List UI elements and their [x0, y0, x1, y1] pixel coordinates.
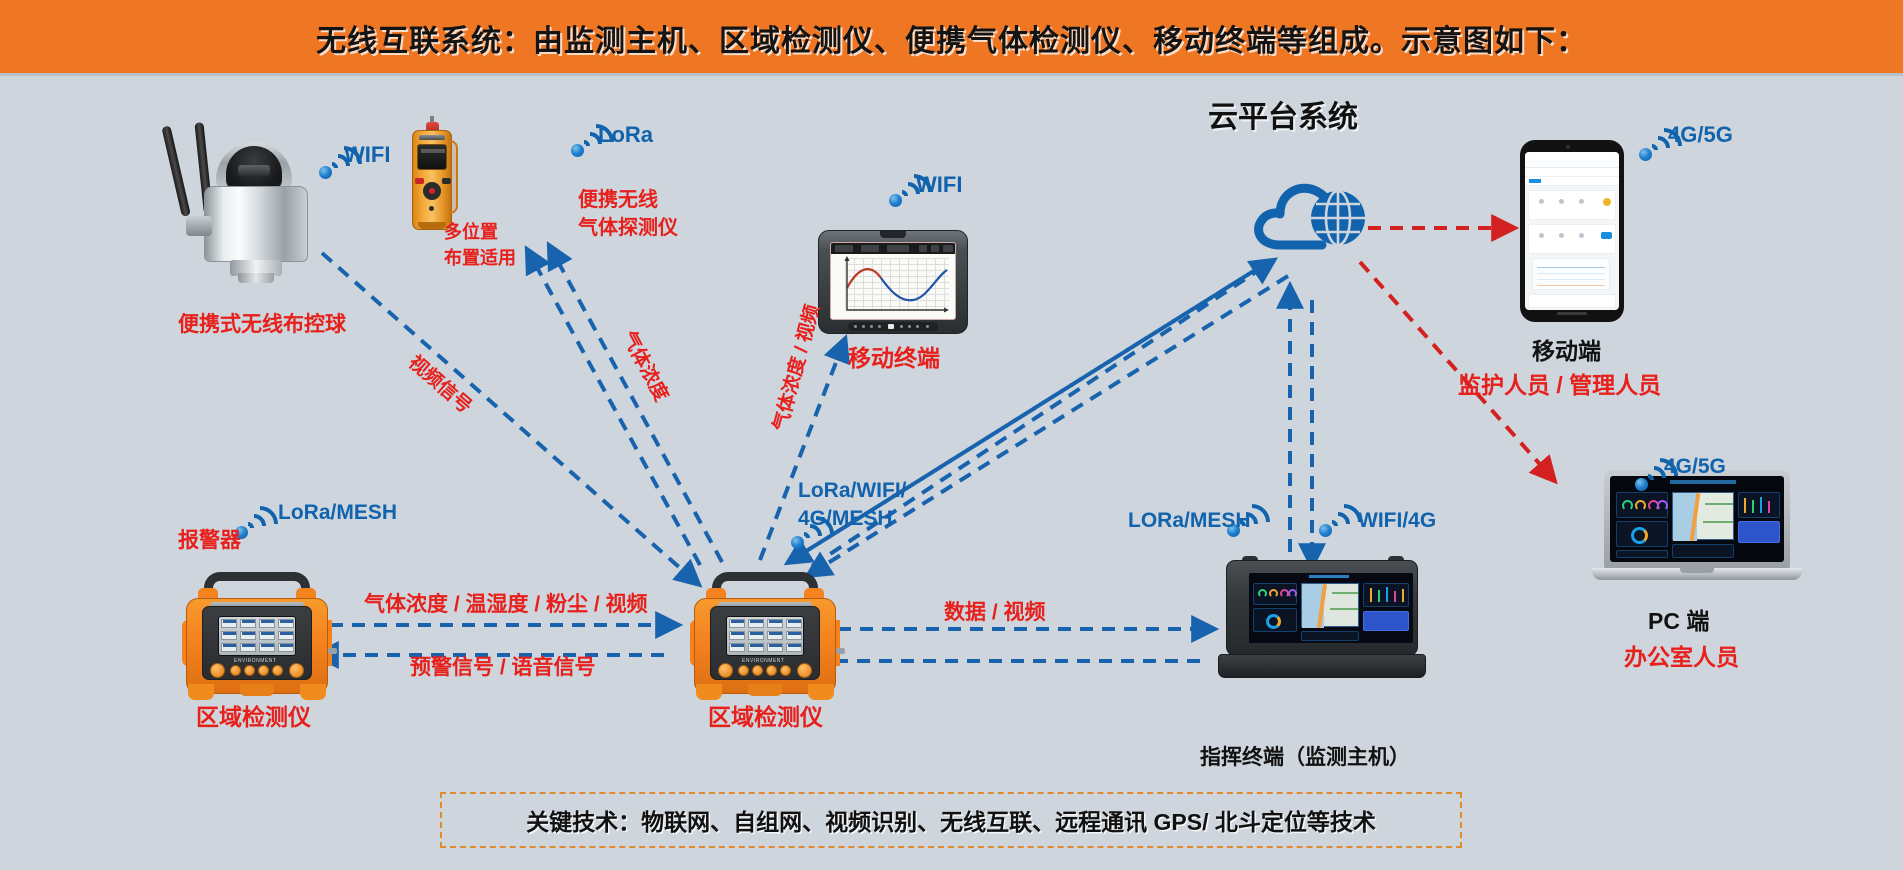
- rugged-map-widget: [1301, 583, 1359, 627]
- pc-base-notch: [1680, 568, 1714, 573]
- handheld-note-line1: 多位置: [444, 222, 498, 244]
- area-detector-left-device: ENVIRONMENT: [182, 572, 332, 702]
- pc-label: PC 端: [1648, 608, 1709, 636]
- link-label-video-signal: 视频信号: [403, 352, 475, 419]
- pc-widget-gauges: [1616, 492, 1668, 518]
- pc-widget-video: [1738, 521, 1780, 543]
- cloud-platform-label: 云平台系统: [1208, 100, 1358, 136]
- rugged-tablet-device: [818, 230, 968, 334]
- pc-widget-bars: [1738, 492, 1780, 518]
- cloud-icon: [1240, 150, 1390, 255]
- pc-map-widget: [1672, 492, 1734, 540]
- link-label-gas-video: 气体浓度 / 视频: [770, 303, 826, 434]
- command-terminal-label: 指挥终端（监测主机）: [1200, 745, 1410, 770]
- phone-tab-row: [1525, 177, 1619, 186]
- detector-vent: [419, 135, 445, 140]
- rugged-base: [1218, 654, 1426, 678]
- rugged-widget-gauges: [1253, 583, 1297, 605]
- command-terminal-device: [1218, 560, 1426, 678]
- key-technology-text: 关键技术：物联网、自组网、视频识别、无线互联、远程通讯 GPS/ 北斗定位等技术: [526, 803, 1376, 837]
- detector-button-left: [415, 178, 424, 184]
- phone-status-bar: [1525, 152, 1619, 159]
- detector-foot-middle: [748, 684, 782, 696]
- detector-dpad: [423, 182, 441, 200]
- phone-card-2: [1528, 224, 1616, 254]
- cloud-platform-device: [1240, 150, 1390, 255]
- camera-side-connector: [186, 216, 212, 236]
- ball-camera-signal-label: WIFI: [344, 142, 390, 168]
- link-label-data-video: 数据 / 视频: [944, 600, 1046, 625]
- pc-signal-label: 4G/5G: [1664, 454, 1726, 479]
- area-detector-center-label: 区域检测仪: [708, 704, 823, 732]
- phone-label: 移动端: [1532, 338, 1601, 366]
- pc-sublabel: 办公室人员: [1624, 644, 1739, 672]
- pc-laptop-device: [1592, 470, 1802, 590]
- camera-lens-band: [238, 165, 270, 176]
- command-signal-right-label: WIFI/4G: [1358, 508, 1436, 533]
- tablet-camera: [880, 231, 906, 238]
- detector-foot-left: [188, 684, 214, 700]
- link-label-gas-concentration: 气体浓度: [616, 328, 672, 406]
- rugged-widget-log: [1301, 631, 1359, 641]
- handheld-note-line2: 布置适用: [444, 248, 516, 270]
- phone-app-header: [1525, 159, 1619, 168]
- detector-button-row: [210, 664, 304, 678]
- detector-connector: [836, 648, 845, 654]
- handheld-gas-detector-device: [412, 122, 458, 230]
- camera-base: [238, 273, 274, 283]
- header-divider: [0, 73, 1903, 76]
- phone-signal-label: 4G/5G: [1668, 122, 1733, 148]
- phone-card-3: [1528, 294, 1616, 308]
- link-label-protocol-line1: LoRa/WIFI/: [798, 478, 907, 503]
- key-technology-box: 关键技术：物联网、自组网、视频识别、无线互联、远程通讯 GPS/ 北斗定位等技术: [440, 792, 1462, 848]
- phone-home-indicator: [1557, 312, 1587, 315]
- pc-widget-log: [1672, 544, 1734, 558]
- tablet-screen: [830, 242, 956, 320]
- detector-screen: [417, 144, 447, 170]
- phone-screen: [1525, 152, 1619, 310]
- tablet-status-bar: [831, 243, 955, 254]
- tablet-label: 移动终端: [848, 345, 940, 373]
- detector-foot: [418, 222, 446, 229]
- rugged-lid: [1226, 560, 1418, 656]
- handheld-label-line2: 气体探测仪: [578, 216, 678, 240]
- detector-button-row: [718, 664, 812, 678]
- ball-camera-device: [160, 120, 330, 280]
- rugged-widget-bars: [1363, 583, 1409, 607]
- phone-camera: [1566, 145, 1570, 149]
- pc-screen-title: [1670, 480, 1736, 484]
- tablet-signal-label: WIFI: [916, 172, 962, 198]
- link-label-alarm-voice: 预警信号 / 语音信号: [410, 655, 596, 680]
- detector-foot-left: [696, 684, 722, 700]
- globe-icon: [1311, 191, 1365, 245]
- ball-camera-label: 便携式无线布控球: [178, 312, 346, 337]
- camera-body: [204, 186, 308, 262]
- detector-strap: [450, 140, 458, 214]
- phone-sublabel: 监护人员 / 管理人员: [1458, 372, 1661, 400]
- rugged-widget-video: [1363, 611, 1409, 631]
- detector-foot-right: [300, 684, 326, 700]
- phone-toolbar: [1525, 168, 1619, 177]
- link-label-protocol-line2: 4G/MESH: [798, 506, 893, 531]
- detector-connector: [328, 648, 337, 654]
- rugged-screen-title: [1279, 574, 1379, 580]
- handheld-signal-label: LoRa: [598, 122, 653, 148]
- alarm-label: 报警器: [178, 528, 241, 553]
- area-detector-center-device: ENVIRONMENT: [690, 572, 840, 702]
- antenna-left-icon: [161, 125, 190, 217]
- handheld-label-line1: 便携无线: [578, 188, 658, 212]
- header-title: 无线互联系统：由监测主机、区域检测仪、便携气体检测仪、移动终端等组成。示意图如下…: [316, 16, 1587, 60]
- tablet-chart-axes: [839, 254, 951, 316]
- command-signal-left-label: LORa/MESH: [1128, 508, 1251, 533]
- area-detector-left-signal-label: LoRa/MESH: [278, 500, 397, 525]
- detector-foot-right: [808, 684, 834, 700]
- tablet-chart: [831, 254, 955, 320]
- pc-widget-footer: [1616, 550, 1668, 558]
- rugged-widget-donut: [1253, 608, 1297, 632]
- detector-display: [726, 616, 804, 656]
- detector-foot-middle: [240, 684, 274, 696]
- link-label-sensor-data: 气体浓度 / 温湿度 / 粉尘 / 视频: [364, 592, 648, 617]
- phone-chart: [1532, 258, 1610, 290]
- rugged-screen: [1249, 573, 1413, 643]
- tablet-button-bar: [848, 322, 938, 331]
- area-detector-left-label: 区域检测仪: [196, 704, 311, 732]
- phone-card-1: [1528, 190, 1616, 220]
- header-banner: 无线互联系统：由监测主机、区域检测仪、便携气体检测仪、移动终端等组成。示意图如下…: [0, 0, 1903, 76]
- mobile-phone-device: [1520, 140, 1624, 322]
- pc-widget-donut: [1616, 521, 1668, 547]
- detector-display: [218, 616, 296, 656]
- wifi-icon-command-right: [1318, 498, 1362, 538]
- detector-indicator: [429, 206, 434, 211]
